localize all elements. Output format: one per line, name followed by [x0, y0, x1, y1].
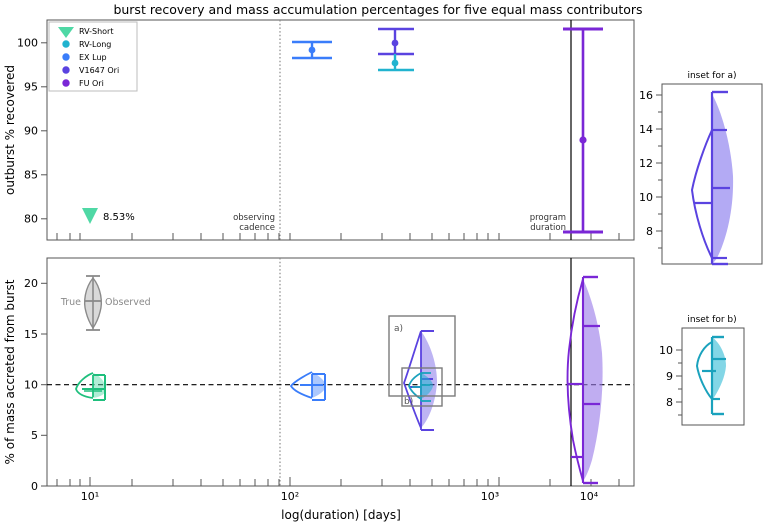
- ytick-14: 14: [639, 123, 662, 136]
- legend-label: FU Ori: [79, 79, 104, 88]
- legend-label: V1647 Ori: [79, 66, 119, 75]
- ytick-label: 10: [639, 191, 653, 204]
- ytick-10: 10: [24, 379, 47, 392]
- legend-label: RV-Short: [79, 27, 113, 36]
- ytick-label: 8: [646, 225, 653, 238]
- figure-canvas: burst recovery and mass accumulation per…: [0, 0, 770, 530]
- figure-root: burst recovery and mass accumulation per…: [0, 0, 770, 530]
- ytick-85: 85: [24, 169, 47, 182]
- annotation-line: cadence: [239, 223, 275, 233]
- bottom-panel-yticks: 20 15 10 5 0: [24, 277, 47, 493]
- ytick-12: 12: [639, 157, 662, 170]
- top-panel-yticks: 100 95 90 85 80: [17, 37, 47, 226]
- xtick-label: 10²: [281, 490, 299, 503]
- ytick-label: 10: [24, 379, 38, 392]
- rv-short-percent-label: 8.53%: [103, 212, 135, 223]
- ytick-9: 9: [666, 370, 682, 383]
- annotation-line: duration: [530, 223, 566, 233]
- top-panel-ylabel: outburst % recovered: [3, 65, 17, 195]
- ytick-label: 95: [24, 81, 38, 94]
- ytick-15: 15: [24, 328, 47, 341]
- ytick-10: 10: [659, 344, 682, 357]
- top-panel: outburst % recovered 100 95 90 85 80: [3, 20, 634, 240]
- ytick-16: 16: [639, 89, 662, 102]
- ytick-label: 10: [659, 344, 673, 357]
- xtick-label: 10¹: [81, 490, 99, 503]
- ytick-label: 100: [17, 37, 38, 50]
- bottom-panel-frame: [47, 258, 634, 486]
- xtick-label: 10³: [481, 490, 499, 503]
- ytick-label: 0: [31, 480, 38, 493]
- ytick-8: 8: [646, 225, 662, 238]
- ytick-8: 8: [666, 396, 682, 409]
- ytick-label: 14: [639, 123, 653, 136]
- ytick-5: 5: [31, 429, 47, 442]
- inset-a-panel: inset for a) 16 14 12 10 8: [639, 71, 762, 264]
- zoom-box-b-label: b): [404, 397, 413, 407]
- ytick-label: 5: [31, 429, 38, 442]
- ytick-0: 0: [31, 480, 47, 493]
- inset-b-yticks: 10 9 8: [659, 344, 682, 415]
- ytick-label: 20: [24, 277, 38, 290]
- xtick-label: 10⁴: [580, 490, 599, 503]
- zoom-box-a-label: a): [394, 324, 403, 334]
- ytick-label: 16: [639, 89, 653, 102]
- inset-a-title: inset for a): [687, 71, 736, 81]
- bottom-panel-xlabel: log(duration) [days]: [281, 508, 401, 522]
- bottom-panel-xticklabels: 10¹ 10² 10³ 10⁴: [81, 490, 599, 503]
- ytick-label: 80: [24, 213, 38, 226]
- circle-icon: [62, 40, 69, 47]
- ytick-label: 9: [666, 370, 673, 383]
- legend-label: RV-Long: [79, 40, 111, 49]
- figure-title: burst recovery and mass accumulation per…: [113, 2, 642, 17]
- inset-b-title: inset for b): [687, 315, 736, 325]
- true-label: True: [60, 297, 81, 308]
- circle-icon: [62, 79, 69, 86]
- ytick-80: 80: [24, 213, 47, 226]
- ytick-100: 100: [17, 37, 47, 50]
- bottom-panel: % of mass accreted from burst log(durati…: [3, 258, 634, 522]
- ytick-20: 20: [24, 277, 47, 290]
- bottom-panel-ylabel: % of mass accreted from burst: [3, 279, 17, 464]
- ytick-label: 8: [666, 396, 673, 409]
- ytick-label: 90: [24, 125, 38, 138]
- inset-b-panel: inset for b) 10 9 8: [659, 315, 744, 425]
- circle-icon: [62, 53, 69, 60]
- annotation-line: program: [530, 213, 566, 223]
- ytick-10: 10: [639, 191, 662, 204]
- ytick-label: 12: [639, 157, 653, 170]
- annotation-line: observing: [233, 213, 275, 223]
- program-duration-annotation-top: program duration: [530, 213, 566, 233]
- ytick-95: 95: [24, 81, 47, 94]
- source-legend[interactable]: RV-Short RV-Long EX Lup V1647 Ori FU Ori: [49, 22, 137, 91]
- observed-label: Observed: [105, 297, 151, 308]
- ytick-label: 15: [24, 328, 38, 341]
- observing-cadence-annotation-top: observing cadence: [233, 213, 275, 233]
- legend-label: EX Lup: [79, 53, 107, 62]
- ytick-90: 90: [24, 125, 47, 138]
- inset-a-yticks: 16 14 12 10 8: [639, 89, 662, 248]
- circle-icon: [62, 66, 69, 73]
- ytick-label: 85: [24, 169, 38, 182]
